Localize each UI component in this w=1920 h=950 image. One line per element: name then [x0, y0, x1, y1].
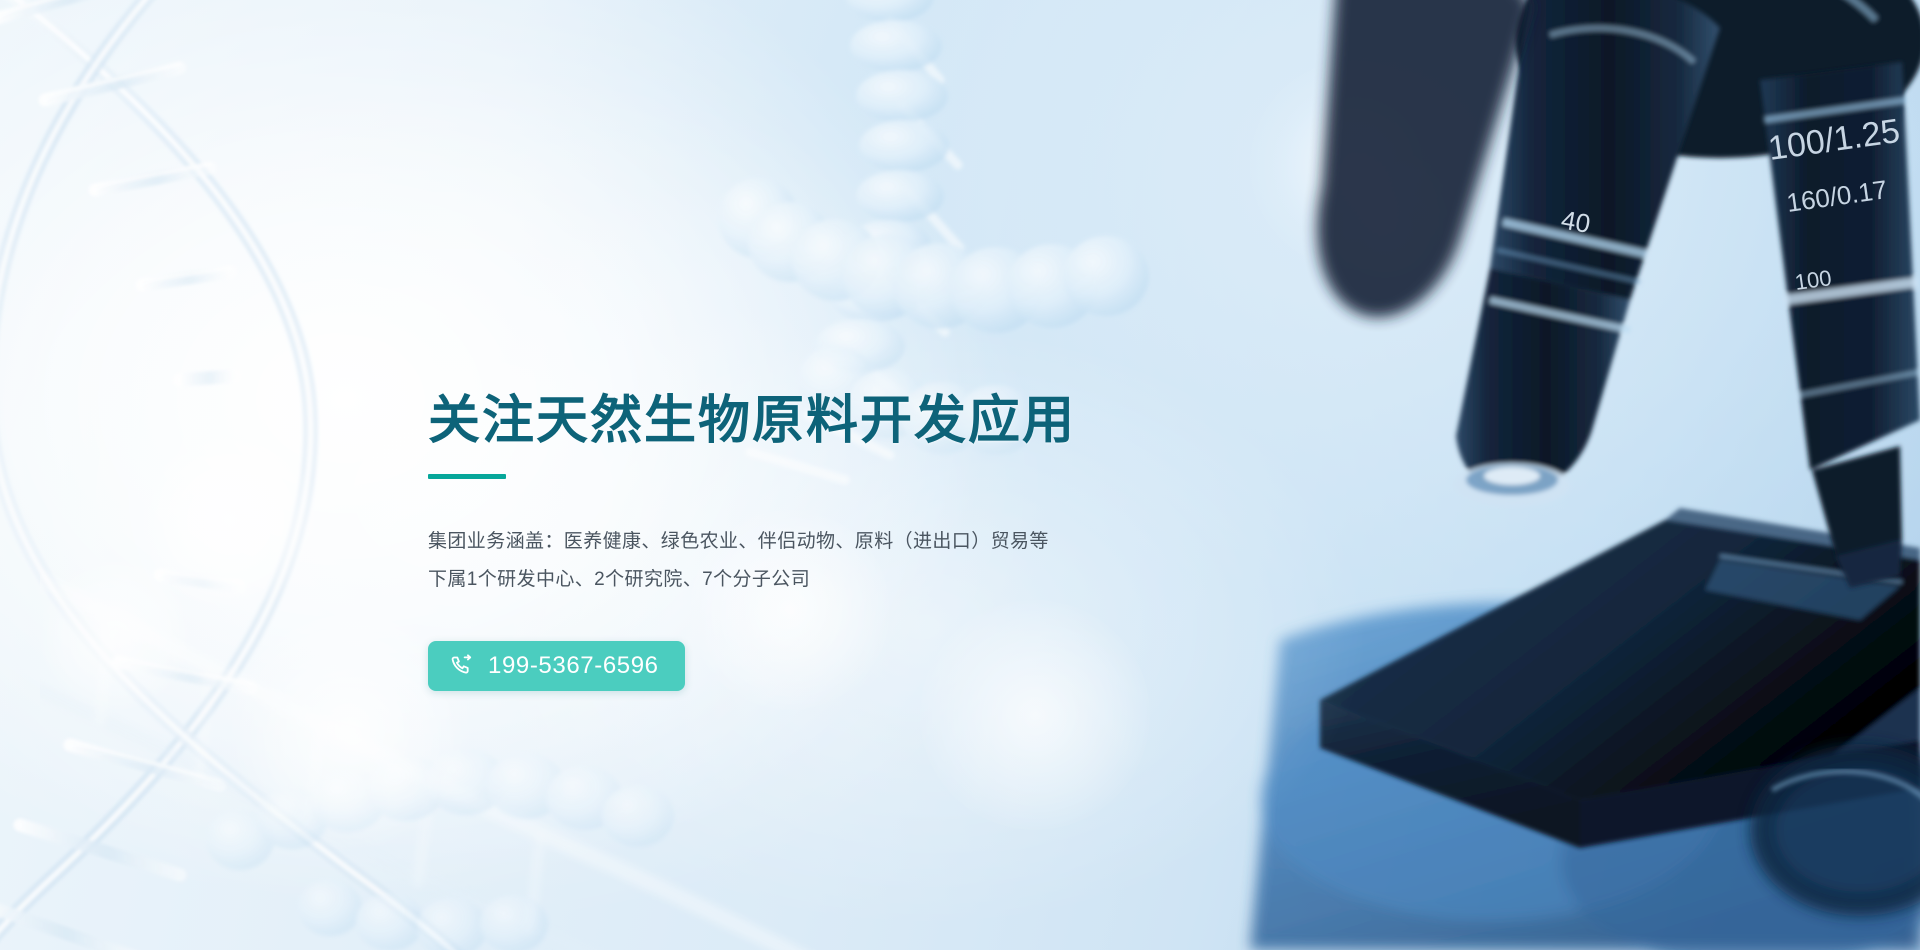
phone-call-button[interactable]: 199-5367-6596: [428, 641, 685, 691]
subtitle-line-1: 集团业务涵盖：医养健康、绿色农业、伴侣动物、原料（进出口）贸易等: [428, 523, 1248, 561]
phone-number-label: 199-5367-6596: [488, 654, 659, 678]
hero-banner: 100/1.25 160/0.17 100 40: [0, 0, 1920, 950]
title-divider: [428, 474, 506, 479]
subtitle-line-2: 下属1个研发中心、2个研究院、7个分子公司: [428, 561, 1248, 599]
hero-subtitle: 集团业务涵盖：医养健康、绿色农业、伴侣动物、原料（进出口）贸易等 下属1个研发中…: [428, 523, 1248, 599]
hero-content: 关注天然生物原料开发应用 集团业务涵盖：医养健康、绿色农业、伴侣动物、原料（进出…: [428, 392, 1248, 691]
phone-forward-icon: [450, 654, 474, 678]
page-title: 关注天然生物原料开发应用: [428, 392, 1248, 450]
